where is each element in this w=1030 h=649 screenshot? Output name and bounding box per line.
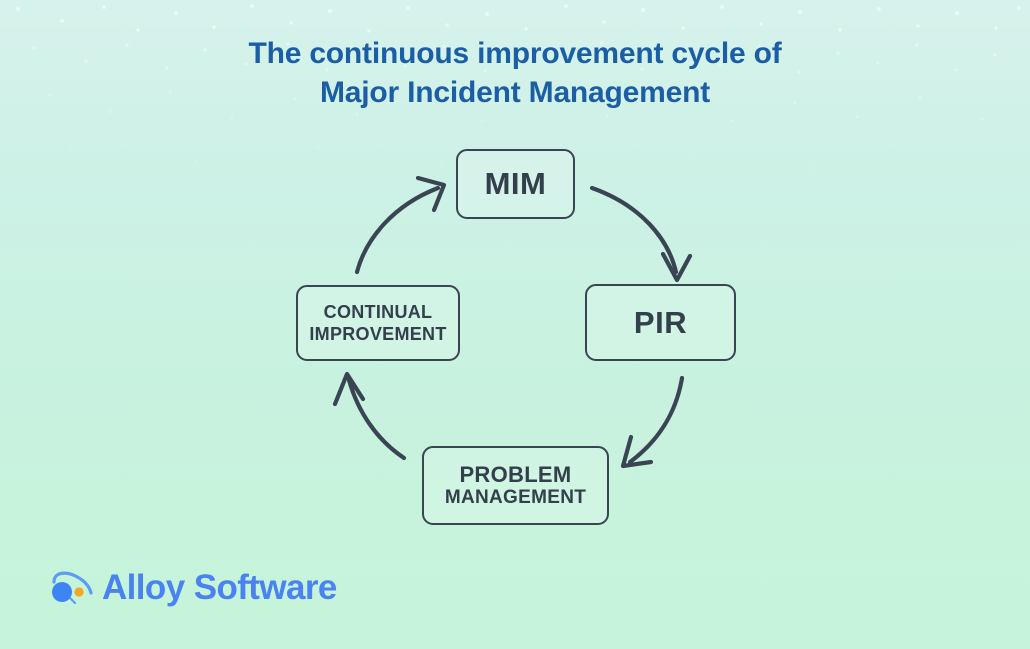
node-problem-management-label-line-1: PROBLEM <box>459 462 571 487</box>
node-mim-label: MIM <box>485 167 547 201</box>
alloy-software-logo[interactable]: Alloy Software <box>48 563 337 613</box>
node-pir[interactable]: PIR <box>585 284 736 361</box>
arrow-pir-to-problem <box>623 378 682 466</box>
alloy-software-wordmark: Alloy Software <box>102 568 337 608</box>
node-mim[interactable]: MIM <box>456 149 575 219</box>
cycle-arrows <box>0 0 1030 649</box>
node-pir-label: PIR <box>634 306 687 340</box>
arrow-continual-to-mim <box>357 178 444 272</box>
node-continual-improvement-label-line-1: CONTINUAL <box>324 301 433 323</box>
arrow-mim-to-pir <box>592 188 690 280</box>
node-problem-management[interactable]: PROBLEM MANAGEMENT <box>422 446 609 525</box>
alloy-comet-icon <box>48 565 94 611</box>
arrow-problem-to-continual <box>335 374 404 458</box>
node-continual-improvement[interactable]: CONTINUAL IMPROVEMENT <box>296 285 460 361</box>
node-continual-improvement-label-line-2: IMPROVEMENT <box>309 323 446 345</box>
improvement-cycle-diagram: MIM PIR PROBLEM MANAGEMENT CONTINUAL IMP… <box>0 0 1030 649</box>
node-problem-management-label-line-2: MANAGEMENT <box>445 487 586 509</box>
